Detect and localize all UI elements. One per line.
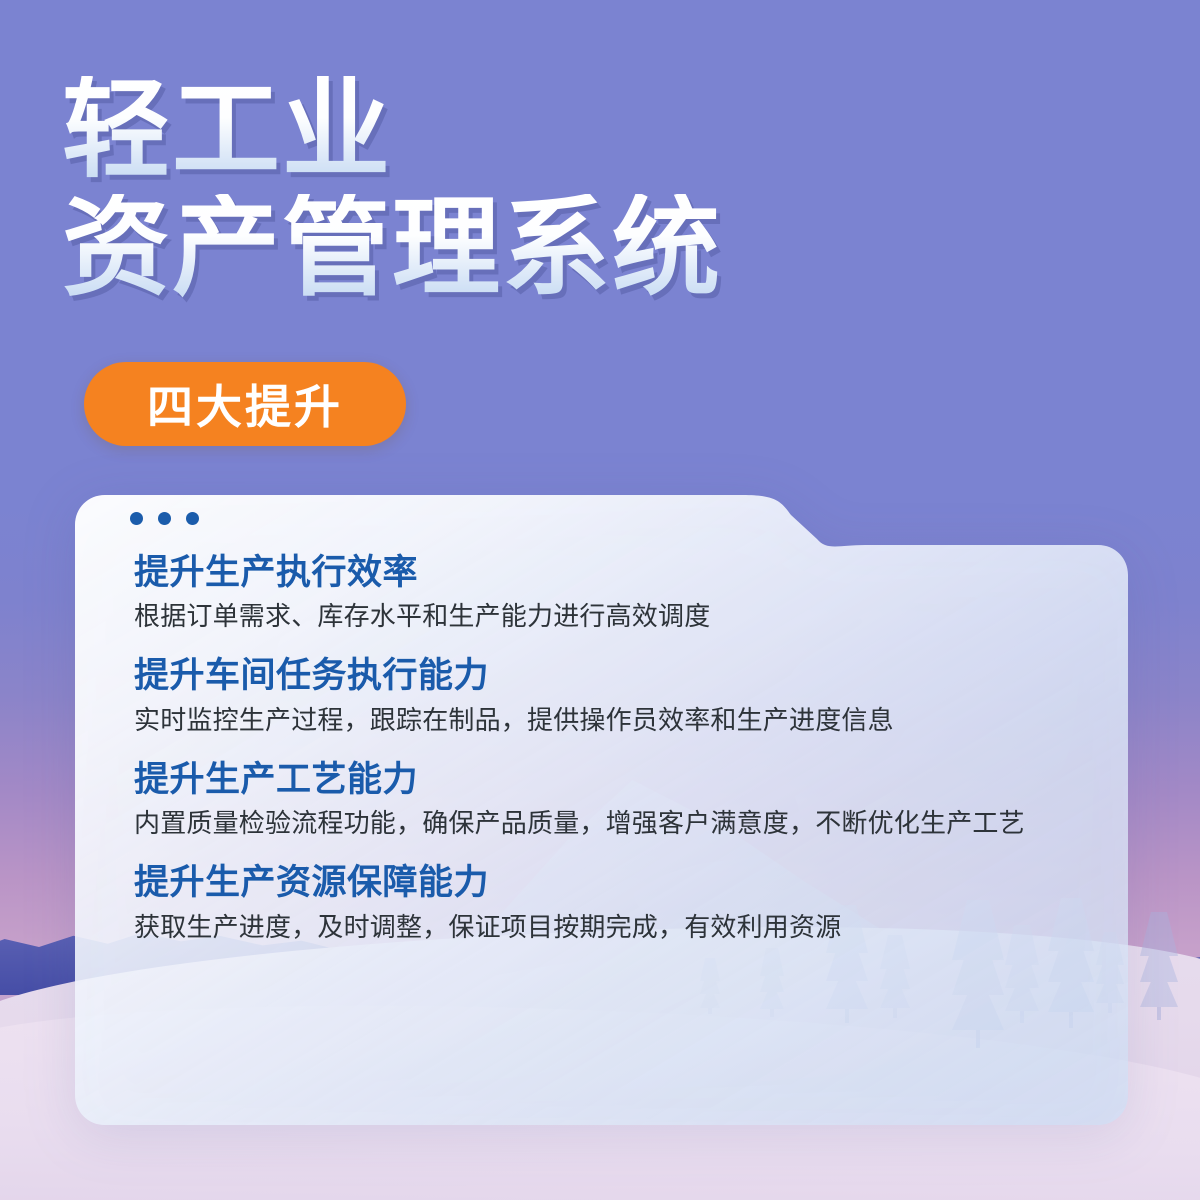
list-item[interactable]: 提升车间任务执行能力 实时监控生产过程，跟踪在制品，提供操作员效率和生产进度信息 [134, 656, 1098, 736]
window-dot-1 [130, 512, 143, 525]
window-dots [130, 512, 199, 525]
window-dot-2 [158, 512, 171, 525]
feature-title: 提升生产资源保障能力 [134, 863, 1098, 903]
feature-description: 内置质量检验流程功能，确保产品质量，增强客户满意度，不断优化生产工艺 [134, 809, 1098, 840]
list-item[interactable]: 提升生产执行效率 根据订单需求、库存水平和生产能力进行高效调度 [134, 553, 1098, 633]
feature-description: 获取生产进度，及时调整，保证项目按期完成，有效利用资源 [134, 913, 1098, 944]
feature-title: 提升生产执行效率 [134, 553, 1098, 593]
poster-canvas: 轻工业 资产管理系统 四大提升 提升生产执行效 [0, 0, 1200, 1200]
highlight-badge[interactable]: 四大提升 [84, 362, 406, 446]
feature-card: 提升生产执行效率 根据订单需求、库存水平和生产能力进行高效调度 提升车间任务执行… [75, 495, 1128, 1125]
feature-title: 提升生产工艺能力 [134, 760, 1098, 800]
feature-description: 实时监控生产过程，跟踪在制品，提供操作员效率和生产进度信息 [134, 706, 1098, 737]
list-item[interactable]: 提升生产工艺能力 内置质量检验流程功能，确保产品质量，增强客户满意度，不断优化生… [134, 760, 1098, 840]
pine-tree-icon [1140, 912, 1178, 1020]
list-item[interactable]: 提升生产资源保障能力 获取生产进度，及时调整，保证项目按期完成，有效利用资源 [134, 863, 1098, 943]
feature-description: 根据订单需求、库存水平和生产能力进行高效调度 [134, 602, 1098, 633]
window-dot-3 [186, 512, 199, 525]
title-line-secondary: 资产管理系统 [62, 194, 722, 304]
feature-title: 提升车间任务执行能力 [134, 656, 1098, 696]
feature-list: 提升生产执行效率 根据订单需求、库存水平和生产能力进行高效调度 提升车间任务执行… [134, 553, 1098, 944]
page-title: 轻工业 资产管理系统 [62, 76, 722, 304]
title-line-primary: 轻工业 [62, 76, 722, 186]
